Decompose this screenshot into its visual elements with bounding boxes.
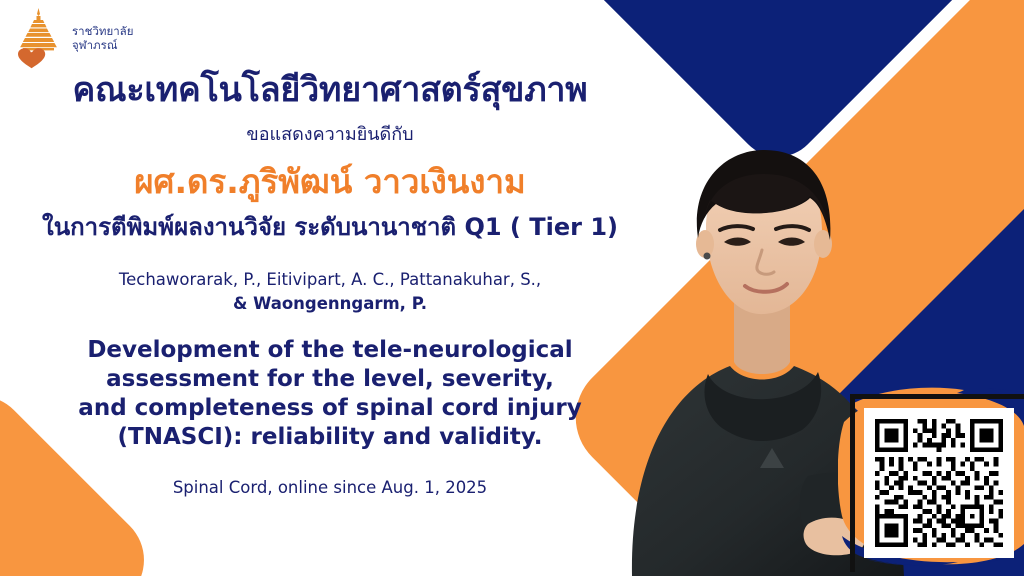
author-list-last: & Waongenngarm, P. [233,294,427,313]
institution-logo: ราชวิทยาลัย จุฬาภรณ์ [10,6,180,70]
pagoda-icon [10,7,68,69]
paper-title-line: and completeness of spinal cord injury [18,394,642,423]
paper-title: Development of the tele-neurological ass… [18,336,642,452]
poster-text-content: คณะเทคโนโลยีวิทยาศาสตร์สุขภาพ ขอแสดงความ… [0,70,660,498]
author-list: Techaworarak, P., Eitivipart, A. C., Pat… [18,268,642,316]
journal-citation: Spinal Cord, online since Aug. 1, 2025 [18,477,642,498]
honoree-name: ผศ.ดร.ภูริพัฒน์ วาวเงินงาม [18,162,642,202]
qr-code-block[interactable] [838,378,1024,576]
achievement-line: ในการตีพิมพ์ผลงานวิจัย ระดับนานาชาติ Q1 … [18,213,642,242]
institution-logo-text: ราชวิทยาลัย จุฬาภรณ์ [72,24,133,53]
paper-title-line: Development of the tele-neurological [18,336,642,365]
paper-title-line: assessment for the level, severity, [18,365,642,394]
author-list-lead: Techaworarak, P., Eitivipart, A. C., Pat… [119,270,541,289]
qr-code[interactable] [864,408,1014,558]
paper-title-line: (TNASCI): reliability and validity. [18,423,642,452]
congratulations-poster: ราชวิทยาลัย จุฬาภรณ์ คณะเทคโนโลยีวิทยาศา… [0,0,1024,576]
congratulation-line: ขอแสดงความยินดีกับ [18,124,642,146]
faculty-name: คณะเทคโนโลยีวิทยาศาสตร์สุขภาพ [18,70,642,110]
